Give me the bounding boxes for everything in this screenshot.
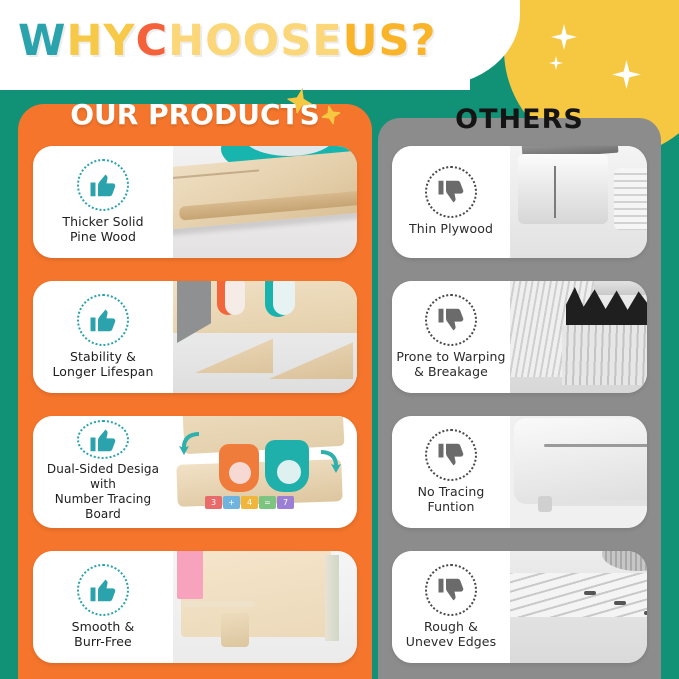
infographic-root: WHY CHOOSE US? OUR PRODUCTS OTHERS Thick… — [0, 0, 679, 679]
card-text-side: Dual-Sided Desiga with Number Tracing Bo… — [33, 416, 173, 528]
card-image — [510, 146, 647, 258]
card-text-side: Stability & Longer Lifespan — [33, 281, 173, 393]
title-part: C — [136, 16, 169, 66]
thumbs-up-icon — [77, 294, 129, 346]
card-label: No Tracing Funtion — [418, 484, 485, 514]
competitor-card[interactable]: Thin Plywood — [392, 146, 647, 258]
thumbs-down-icon — [425, 166, 477, 218]
number-tile: + — [223, 496, 240, 509]
card-image: 3+4=7 — [173, 416, 357, 528]
card-image — [173, 146, 357, 258]
card-label: Stability & Longer Lifespan — [52, 349, 153, 379]
product-card[interactable]: Smooth & Burr-Free — [33, 551, 357, 663]
number-tile: 4 — [241, 496, 258, 509]
competitor-card[interactable]: No Tracing Funtion — [392, 416, 647, 528]
title-part: W — [18, 16, 66, 66]
card-label: Rough & Unevev Edges — [406, 619, 496, 649]
card-image — [173, 551, 357, 663]
rotate-arrow-icon — [317, 448, 341, 476]
card-label: Thicker Solid Pine Wood — [62, 214, 143, 244]
number-tiles: 3+4=7 — [205, 496, 295, 509]
product-card[interactable]: Dual-Sided Desiga with Number Tracing Bo… — [33, 416, 357, 528]
card-text-side: Thin Plywood — [392, 146, 510, 258]
card-text-side: Smooth & Burr-Free — [33, 551, 173, 663]
product-card[interactable]: Stability & Longer Lifespan — [33, 281, 357, 393]
card-text-side: No Tracing Funtion — [392, 416, 510, 528]
number-tile: = — [259, 496, 276, 509]
competitor-card[interactable]: Prone to Warping & Breakage — [392, 281, 647, 393]
page-title: WHY CHOOSE US? — [18, 16, 518, 72]
thumbs-down-icon — [425, 564, 477, 616]
card-label: Prone to Warping & Breakage — [396, 349, 505, 379]
card-label: Smooth & Burr-Free — [72, 619, 135, 649]
others-heading: OTHERS — [378, 104, 661, 140]
thumbs-up-icon — [77, 420, 129, 459]
title-part: HY — [66, 16, 135, 66]
card-text-side: Prone to Warping & Breakage — [392, 281, 510, 393]
card-image — [510, 281, 647, 393]
card-label: Thin Plywood — [409, 221, 493, 236]
card-text-side: Thicker Solid Pine Wood — [33, 146, 173, 258]
number-tile: 7 — [277, 496, 294, 509]
thumbs-down-icon — [425, 429, 477, 481]
card-image — [173, 281, 357, 393]
product-card[interactable]: Thicker Solid Pine Wood — [33, 146, 357, 258]
competitor-card[interactable]: Rough & Unevev Edges — [392, 551, 647, 663]
card-image — [510, 416, 647, 528]
card-text-side: Rough & Unevev Edges — [392, 551, 510, 663]
title-part: HOOSE — [168, 16, 342, 66]
card-label: Dual-Sided Desiga with Number Tracing Bo… — [35, 462, 171, 522]
title-part: US? — [343, 16, 437, 66]
number-tile: 3 — [205, 496, 222, 509]
thumbs-up-icon — [77, 564, 129, 616]
thumbs-up-icon — [77, 159, 129, 211]
our-products-heading: OUR PRODUCTS — [18, 98, 372, 138]
rotate-arrow-icon — [179, 430, 203, 458]
thumbs-down-icon — [425, 294, 477, 346]
card-image — [510, 551, 647, 663]
